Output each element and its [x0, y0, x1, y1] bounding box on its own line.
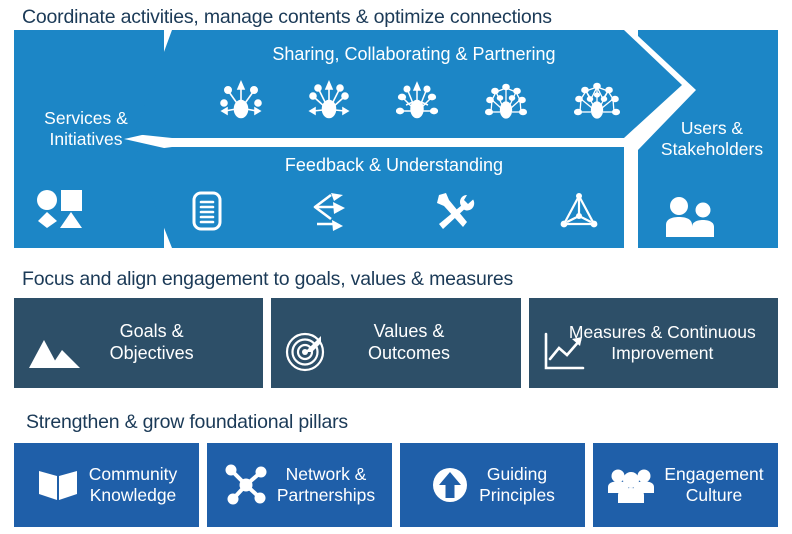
pillar-box-guiding-principles-label: Guiding Principles: [479, 464, 555, 506]
line-chart-icon: [543, 332, 589, 372]
network-densest-icon: [574, 78, 620, 120]
pillar-box-network-partnerships[interactable]: Network & Partnerships: [207, 443, 392, 527]
people-group-icon: [607, 465, 655, 505]
pillar-box-engagement-culture[interactable]: Engagement Culture: [593, 443, 778, 527]
focus-box-measures-label: Measures & Continuous Improvement: [569, 322, 756, 364]
pillar-box-community-knowledge[interactable]: Community Knowledge: [14, 443, 199, 527]
chevron-left-cap-label: Services & Initiatives: [20, 108, 152, 149]
pillar-box-network-partnerships-label: Network & Partnerships: [277, 464, 375, 506]
two-people-icon: [664, 195, 720, 237]
focus-box-goals[interactable]: Goals & Objectives: [14, 298, 263, 388]
chevron-bottom-band-label: Feedback & Understanding: [164, 155, 624, 176]
multi-arrow-icon: [307, 190, 349, 232]
network-growing-icon: [308, 78, 350, 120]
document-icon: [190, 191, 224, 231]
focus-box-measures[interactable]: Measures & Continuous Improvement: [529, 298, 778, 388]
network-dense-icon: [484, 78, 528, 120]
section-header-focus: Focus and align engagement to goals, val…: [22, 268, 513, 291]
section-header-pillars: Strengthen & grow foundational pillars: [26, 411, 348, 434]
open-book-icon: [36, 466, 80, 504]
pillar-box-community-knowledge-label: Community Knowledge: [89, 464, 178, 506]
focus-box-values-label: Values & Outcomes: [368, 321, 450, 364]
top-band-icon-row: [220, 78, 620, 120]
hub-nodes-icon: [224, 464, 268, 506]
target-icon: [285, 330, 327, 372]
tools-icon: [433, 191, 475, 231]
focus-box-goals-label: Goals & Objectives: [110, 321, 194, 364]
up-arrow-circle-icon: [430, 465, 470, 505]
triangle-network-icon: [558, 191, 600, 231]
infographic-page: Coordinate activities, manage contents &…: [0, 0, 792, 534]
focus-box-row: Goals & Objectives Values & Outcomes: [14, 298, 778, 388]
chevron-right-cap-label: Users & Stakeholders: [648, 118, 776, 159]
mountain-icon: [28, 338, 82, 372]
shapes-icon: [36, 190, 86, 228]
focus-box-values[interactable]: Values & Outcomes: [271, 298, 520, 388]
pillar-box-row: Community Knowledge: [14, 443, 778, 527]
bottom-band-icon-row: [190, 190, 600, 232]
pillar-box-engagement-culture-label: Engagement Culture: [664, 464, 763, 506]
chevron-band: Services & Initiatives Sharing, Collabor…: [14, 30, 778, 248]
section-header-coordinate: Coordinate activities, manage contents &…: [22, 6, 552, 29]
network-sparse-icon: [220, 78, 262, 120]
pillar-box-guiding-principles[interactable]: Guiding Principles: [400, 443, 585, 527]
network-medium-icon: [396, 78, 438, 120]
chevron-top-band-label: Sharing, Collaborating & Partnering: [184, 44, 644, 65]
